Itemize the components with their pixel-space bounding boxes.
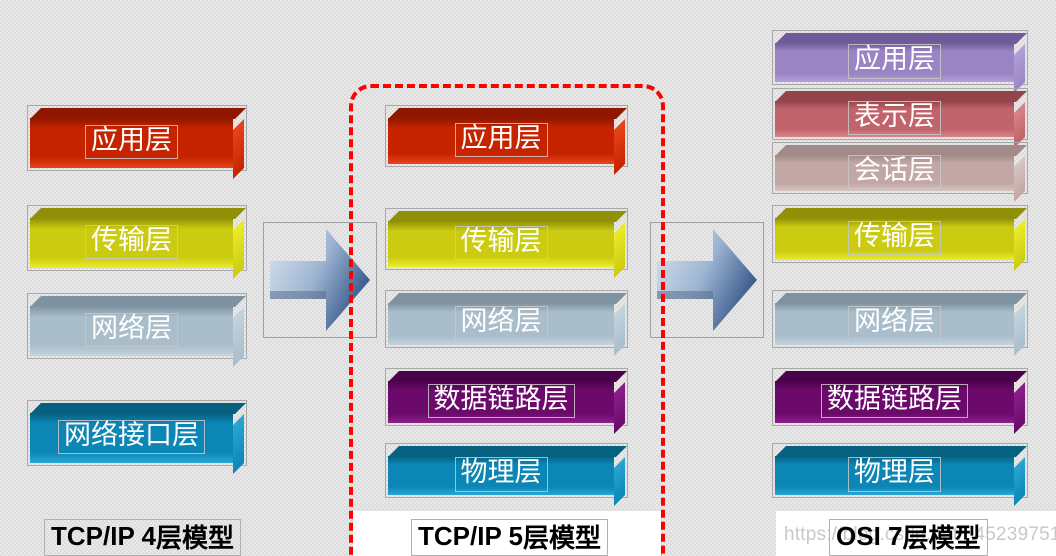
box-front-face: 网络层 [388,303,614,345]
box-front-face: 传输层 [388,221,614,267]
layer-label: 数据链路层 [428,384,575,418]
layer-box[interactable]: 会话层 [772,142,1028,194]
model-caption-tcpip5: TCP/IP 5层模型 [411,519,608,556]
box-front-face: 传输层 [30,218,233,268]
layer-label: 传输层 [848,221,941,255]
layer-label: 数据链路层 [821,384,968,418]
box-right-face [233,219,244,279]
caption-ascii: TCP/IP 5 [418,521,523,552]
box-front-face: 网络接口层 [30,413,233,463]
box-right-face [233,307,244,367]
layer-box[interactable]: 网络层 [385,290,628,348]
layer-label: 传输层 [85,225,178,259]
model-caption-osi7: OSI 7层模型 [829,519,988,556]
box-front-face: 物理层 [775,456,1014,495]
layer-box[interactable]: 数据链路层 [772,368,1028,426]
layer-box[interactable]: 物理层 [772,443,1028,498]
caption-cjk: 层模型 [523,518,601,555]
box-right-face [1014,44,1025,93]
box-front-face: 网络层 [30,306,233,356]
box-right-face [1014,382,1025,434]
layer-label: 网络接口层 [58,420,205,454]
arrow-right-icon [651,223,763,337]
layer-label: 网络层 [85,313,178,347]
layer-label: 物理层 [455,457,548,491]
layer-box[interactable]: 应用层 [27,105,247,171]
caption-ascii: OSI 7 [836,521,902,552]
layer-box[interactable]: 网络层 [27,293,247,359]
arrow-tcpip4-to-tcpip5 [263,222,377,338]
layer-label: 网络层 [848,306,941,340]
layer-box[interactable]: 网络接口层 [27,400,247,466]
layer-box[interactable]: 传输层 [385,208,628,270]
layer-label: 物理层 [848,457,941,491]
box-front-face: 会话层 [775,155,1014,191]
layer-box[interactable]: 物理层 [385,443,628,498]
layer-label: 应用层 [848,44,941,78]
layer-box[interactable]: 传输层 [27,205,247,271]
box-front-face: 传输层 [775,218,1014,260]
box-right-face [614,382,625,434]
box-right-face [614,304,625,356]
box-front-face: 应用层 [775,43,1014,82]
layer-box[interactable]: 表示层 [772,88,1028,140]
diagram-canvas: https://blog.csdn.net/_45239751 应用层 传输层 [0,0,1056,556]
arrow-tcpip5-to-osi7 [650,222,764,338]
box-front-face: 数据链路层 [775,381,1014,423]
box-front-face: 应用层 [30,118,233,168]
layer-box[interactable]: 应用层 [385,105,628,167]
caption-ascii: TCP/IP 4 [51,521,156,552]
box-right-face [614,222,625,278]
arrow-right-icon [264,223,376,337]
box-right-face [1014,304,1025,356]
box-front-face: 物理层 [388,456,614,495]
box-right-face [1014,219,1025,271]
box-right-face [233,414,244,474]
box-right-face [233,119,244,179]
model-caption-tcpip4: TCP/IP 4层模型 [44,519,241,556]
layer-box[interactable]: 应用层 [772,30,1028,85]
box-front-face: 应用层 [388,118,614,164]
layer-label: 应用层 [455,123,548,157]
layer-label: 传输层 [455,226,548,260]
box-front-face: 数据链路层 [388,381,614,423]
layer-box[interactable]: 数据链路层 [385,368,628,426]
box-front-face: 网络层 [775,303,1014,345]
layer-box[interactable]: 传输层 [772,205,1028,263]
box-right-face [614,119,625,175]
caption-cjk: 层模型 [902,518,980,555]
layer-label: 表示层 [848,101,941,135]
box-right-face [1014,156,1025,202]
box-right-face [1014,457,1025,506]
box-right-face [614,457,625,506]
layer-box[interactable]: 网络层 [772,290,1028,348]
layer-label: 网络层 [455,306,548,340]
layer-label: 会话层 [848,155,941,189]
layer-label: 应用层 [85,125,178,159]
box-front-face: 表示层 [775,101,1014,137]
caption-cjk: 层模型 [156,518,234,555]
